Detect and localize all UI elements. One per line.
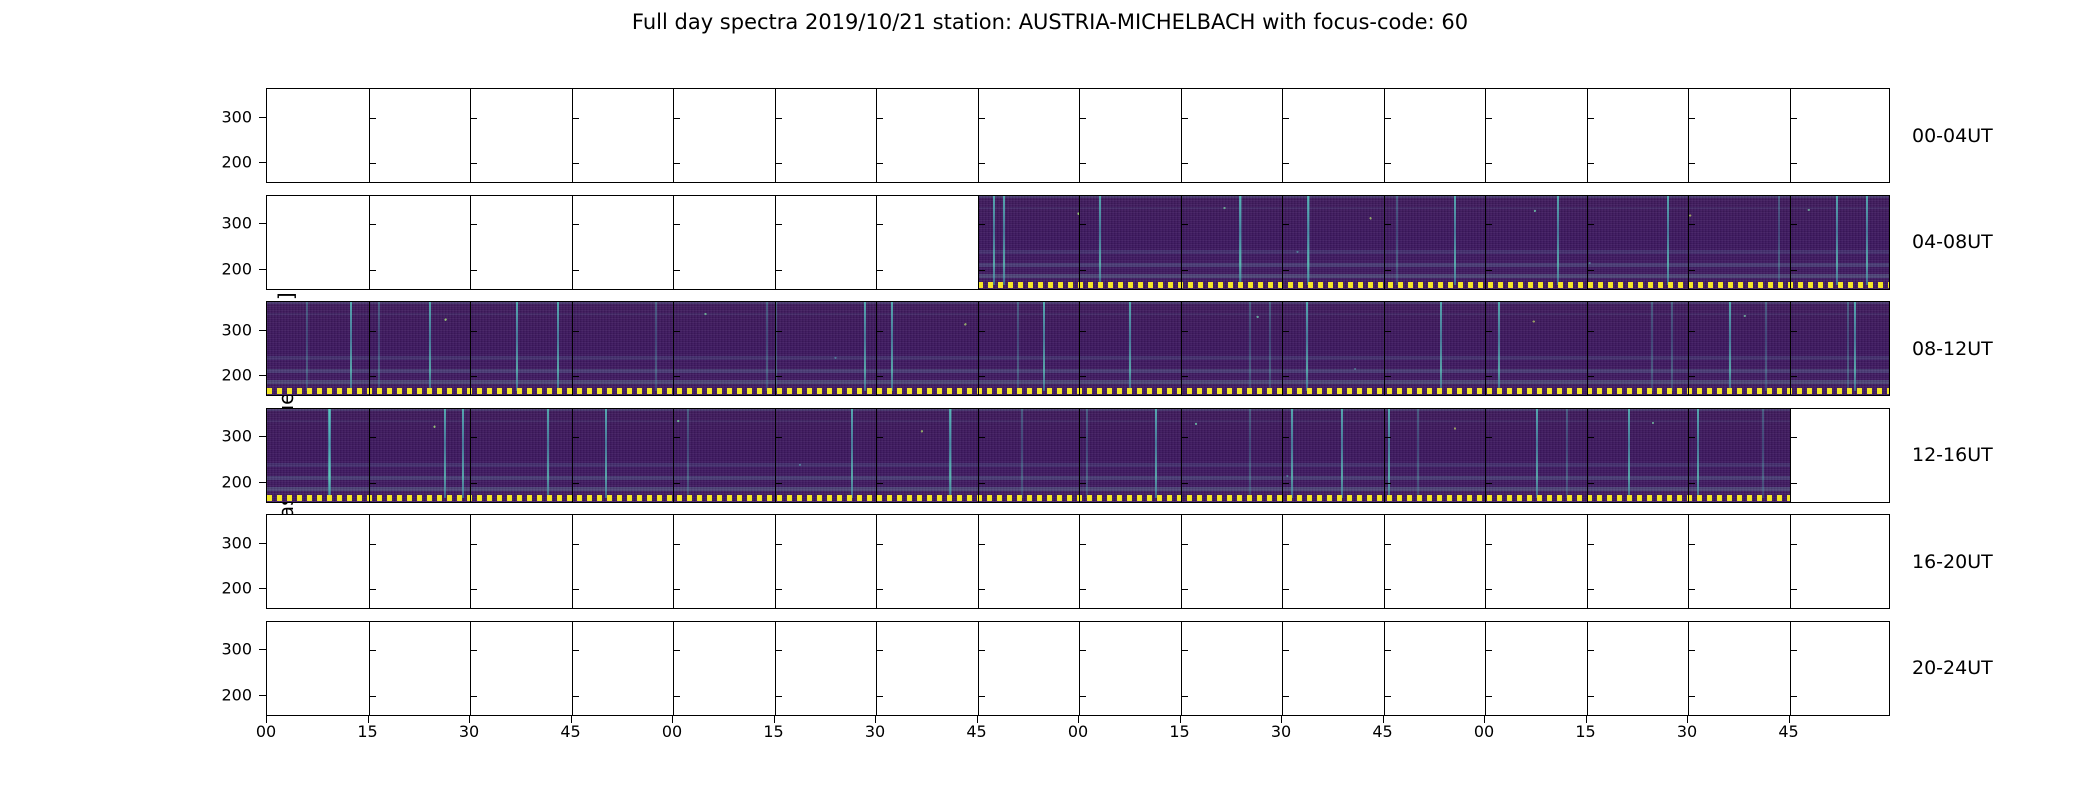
- inner-y-tick: [1790, 224, 1797, 225]
- panel-separator: [470, 302, 471, 395]
- y-axis-tick-label: 200: [221, 259, 252, 278]
- inner-y-tick: [1282, 376, 1289, 377]
- spectrogram-row-12-16ut[interactable]: [266, 408, 1890, 503]
- panel-separator: [978, 196, 979, 289]
- y-axis-tick-label: 300: [221, 533, 252, 552]
- inner-y-tick: [1384, 163, 1391, 164]
- spectrogram-streak: [1566, 409, 1568, 498]
- x-axis-tick-label: 15: [763, 722, 783, 741]
- inner-y-tick: [1384, 483, 1391, 484]
- inner-y-tick: [470, 224, 477, 225]
- spectrogram-streak: [687, 409, 689, 498]
- panel-separator: [673, 302, 674, 395]
- inner-y-tick: [775, 483, 782, 484]
- spectrogram-row-16-20ut[interactable]: [266, 514, 1890, 609]
- row-label-16-20ut: 16-20UT: [1912, 551, 1993, 573]
- panel-separator: [1790, 196, 1791, 289]
- inner-y-tick: [1485, 589, 1492, 590]
- spectrogram-streak: [350, 302, 352, 391]
- spectrogram-streak: [1239, 196, 1241, 285]
- panel-separator: [1282, 89, 1283, 182]
- spectrogram-streak: [1536, 409, 1538, 498]
- inner-y-tick: [775, 118, 782, 119]
- y-axis-tick: [259, 588, 266, 589]
- inner-y-tick: [1282, 589, 1289, 590]
- inner-y-tick: [572, 163, 579, 164]
- inner-y-tick: [1587, 331, 1594, 332]
- inner-y-tick: [1079, 544, 1086, 545]
- inner-y-tick: [775, 376, 782, 377]
- panel-separator: [1181, 409, 1182, 502]
- inner-y-tick: [470, 270, 477, 271]
- inner-y-tick: [572, 696, 579, 697]
- inner-y-tick: [1790, 437, 1797, 438]
- panel-separator: [1485, 196, 1486, 289]
- inner-y-tick: [572, 437, 579, 438]
- inner-y-tick: [978, 437, 985, 438]
- inner-y-tick: [1384, 437, 1391, 438]
- inner-y-tick: [1282, 696, 1289, 697]
- inner-y-tick: [1790, 163, 1797, 164]
- panel-separator: [978, 302, 979, 395]
- panel-separator: [470, 622, 471, 715]
- x-axis-tick-label: 45: [966, 722, 986, 741]
- inner-y-tick: [1181, 118, 1188, 119]
- inner-y-tick: [1384, 544, 1391, 545]
- inner-y-tick: [876, 437, 883, 438]
- spectrogram-streak: [851, 409, 853, 498]
- inner-y-tick: [876, 544, 883, 545]
- spectrogram-streak: [1307, 196, 1309, 285]
- frequency-boundary-dashed-line: [978, 282, 1891, 288]
- inner-y-tick: [978, 163, 985, 164]
- panel-separator: [1790, 622, 1791, 715]
- inner-y-tick: [876, 331, 883, 332]
- panel-separator: [369, 409, 370, 502]
- panel-separator: [1181, 89, 1182, 182]
- figure-canvas: Full day spectra 2019/10/21 station: AUS…: [0, 0, 2100, 800]
- panel-separator: [1181, 302, 1182, 395]
- panel-separator: [369, 622, 370, 715]
- inner-y-tick: [673, 544, 680, 545]
- y-axis-tick-label: 300: [221, 320, 252, 339]
- inner-y-tick: [1587, 589, 1594, 590]
- spectrogram-streak: [1440, 302, 1442, 391]
- spectrogram-streak: [1269, 302, 1271, 391]
- y-axis-tick: [259, 436, 266, 437]
- panel-separator: [1384, 89, 1385, 182]
- inner-y-tick: [1688, 483, 1695, 484]
- spectrogram-streak: [1249, 409, 1251, 498]
- inner-y-tick: [1790, 270, 1797, 271]
- inner-y-tick: [978, 650, 985, 651]
- inner-y-tick: [673, 483, 680, 484]
- y-axis-tick: [259, 223, 266, 224]
- inner-y-tick: [1485, 696, 1492, 697]
- panel-separator: [470, 196, 471, 289]
- x-axis-tick-label: 00: [1068, 722, 1088, 741]
- inner-y-tick: [876, 589, 883, 590]
- inner-y-tick: [1485, 224, 1492, 225]
- spectrogram-streak: [605, 409, 607, 498]
- panel-separator: [876, 302, 877, 395]
- inner-y-tick: [1485, 650, 1492, 651]
- inner-y-tick: [1688, 696, 1695, 697]
- inner-y-tick: [876, 224, 883, 225]
- spectrogram-streak: [1765, 302, 1767, 391]
- frequency-boundary-dashed-line: [267, 495, 1790, 501]
- panel-separator: [775, 409, 776, 502]
- inner-y-tick: [470, 544, 477, 545]
- inner-y-tick: [978, 696, 985, 697]
- inner-y-tick: [1587, 376, 1594, 377]
- panel-separator: [876, 622, 877, 715]
- panel-separator: [775, 622, 776, 715]
- inner-y-tick: [1790, 589, 1797, 590]
- spectrogram-streak: [993, 196, 995, 285]
- panel-separator: [369, 515, 370, 608]
- spectrogram-image: [978, 196, 1891, 289]
- inner-y-tick: [1384, 376, 1391, 377]
- panel-separator: [369, 89, 370, 182]
- spectrogram-streak: [864, 302, 866, 391]
- inner-y-tick: [1384, 224, 1391, 225]
- panel-separator: [1181, 196, 1182, 289]
- panel-separator: [572, 89, 573, 182]
- y-axis-tick-label: 200: [221, 366, 252, 385]
- spectrogram-streak: [1417, 409, 1419, 498]
- spectrogram-image: [267, 409, 1790, 502]
- y-axis-tick-label: 200: [221, 579, 252, 598]
- spectrogram-streak: [949, 409, 951, 498]
- inner-y-tick: [1384, 650, 1391, 651]
- panel-separator: [1079, 89, 1080, 182]
- panel-separator: [1587, 515, 1588, 608]
- spectrogram-data-12-16ut: [267, 409, 1790, 502]
- inner-y-tick: [1282, 163, 1289, 164]
- panel-separator: [1282, 302, 1283, 395]
- inner-y-tick: [369, 437, 376, 438]
- x-axis-tick-label: 00: [256, 722, 276, 741]
- spectrogram-streak: [1651, 302, 1653, 391]
- inner-y-tick: [1688, 650, 1695, 651]
- inner-y-tick: [572, 270, 579, 271]
- inner-y-tick: [1181, 224, 1188, 225]
- spectrogram-row-00-04ut[interactable]: [266, 88, 1890, 183]
- panel-separator: [1079, 302, 1080, 395]
- x-axis-tick-label: 45: [1778, 722, 1798, 741]
- spectrogram-streak: [1388, 409, 1390, 498]
- inner-y-tick: [673, 118, 680, 119]
- y-axis-tick: [259, 695, 266, 696]
- inner-y-tick: [1688, 331, 1695, 332]
- panel-separator: [876, 409, 877, 502]
- x-axis-tick-label: 30: [459, 722, 479, 741]
- x-axis-tick-label: 30: [1677, 722, 1697, 741]
- inner-y-tick: [369, 544, 376, 545]
- panel-separator: [1688, 622, 1689, 715]
- inner-y-tick: [876, 270, 883, 271]
- panel-separator: [978, 515, 979, 608]
- inner-y-tick: [1790, 118, 1797, 119]
- y-axis-tick-label: 300: [221, 214, 252, 233]
- spectrogram-streak: [378, 302, 380, 391]
- inner-y-tick: [572, 483, 579, 484]
- spectrogram-streak: [1454, 196, 1456, 285]
- inner-y-tick: [1688, 270, 1695, 271]
- x-axis-tick-label: 00: [1474, 722, 1494, 741]
- inner-y-tick: [1587, 118, 1594, 119]
- panel-separator: [1384, 515, 1385, 608]
- inner-y-tick: [1181, 589, 1188, 590]
- inner-y-tick: [470, 163, 477, 164]
- spectrogram-streak: [516, 302, 518, 391]
- inner-y-tick: [1079, 163, 1086, 164]
- inner-y-tick: [978, 376, 985, 377]
- inner-y-tick: [1688, 589, 1695, 590]
- y-axis-tick-label: 300: [221, 640, 252, 659]
- inner-y-tick: [1384, 270, 1391, 271]
- inner-y-tick: [1079, 331, 1086, 332]
- spectrogram-streak: [1847, 302, 1849, 391]
- panel-separator: [1688, 89, 1689, 182]
- row-label-04-08ut: 04-08UT: [1912, 231, 1993, 253]
- inner-y-tick: [470, 376, 477, 377]
- inner-y-tick: [369, 331, 376, 332]
- inner-y-tick: [775, 696, 782, 697]
- panel-separator: [572, 622, 573, 715]
- spectrogram-streak: [1099, 196, 1101, 285]
- spectrogram-streak: [1667, 196, 1669, 285]
- panel-separator: [470, 409, 471, 502]
- inner-y-tick: [673, 224, 680, 225]
- y-axis-tick: [259, 482, 266, 483]
- inner-y-tick: [978, 544, 985, 545]
- x-axis-tick-label: 30: [865, 722, 885, 741]
- spectrogram-streak: [1017, 302, 1019, 391]
- spectrogram-streak: [1043, 302, 1045, 391]
- inner-y-tick: [1790, 331, 1797, 332]
- spectrogram-streak: [1778, 196, 1780, 285]
- inner-y-tick: [775, 163, 782, 164]
- inner-y-tick: [1282, 118, 1289, 119]
- row-label-08-12ut: 08-12UT: [1912, 338, 1993, 360]
- panel-separator: [1485, 515, 1486, 608]
- spectrogram-streak: [1003, 196, 1005, 285]
- inner-y-tick: [978, 589, 985, 590]
- inner-y-tick: [1181, 483, 1188, 484]
- inner-y-tick: [470, 483, 477, 484]
- panel-separator: [1790, 409, 1791, 502]
- inner-y-tick: [673, 696, 680, 697]
- spectrogram-streak: [1249, 302, 1251, 391]
- inner-y-tick: [572, 650, 579, 651]
- inner-y-tick: [1688, 118, 1695, 119]
- inner-y-tick: [978, 331, 985, 332]
- spectrogram-streak: [1697, 409, 1699, 498]
- inner-y-tick: [1079, 270, 1086, 271]
- inner-y-tick: [775, 437, 782, 438]
- inner-y-tick: [1688, 163, 1695, 164]
- y-axis-tick-label: 200: [221, 472, 252, 491]
- panel-separator: [1282, 622, 1283, 715]
- panel-separator: [1282, 515, 1283, 608]
- panel-separator: [876, 196, 877, 289]
- inner-y-tick: [470, 589, 477, 590]
- inner-y-tick: [1587, 163, 1594, 164]
- inner-y-tick: [1282, 650, 1289, 651]
- panel-separator: [1485, 622, 1486, 715]
- panel-separator: [1079, 196, 1080, 289]
- inner-y-tick: [1181, 331, 1188, 332]
- inner-y-tick: [470, 331, 477, 332]
- panel-separator: [978, 89, 979, 182]
- inner-y-tick: [369, 270, 376, 271]
- panel-separator: [1485, 302, 1486, 395]
- panel-separator: [1790, 89, 1791, 182]
- inner-y-tick: [369, 589, 376, 590]
- panel-separator: [673, 89, 674, 182]
- panel-separator: [1790, 515, 1791, 608]
- inner-y-tick: [1181, 163, 1188, 164]
- spectrogram-streak: [766, 302, 768, 391]
- panel-separator: [1079, 409, 1080, 502]
- y-axis-tick: [259, 330, 266, 331]
- panel-separator: [572, 196, 573, 289]
- inner-y-tick: [1181, 650, 1188, 651]
- spectrogram-streak: [1836, 196, 1838, 285]
- spectrogram-streak: [1729, 302, 1731, 391]
- spectrogram-streak: [329, 409, 331, 498]
- row-label-00-04ut: 00-04UT: [1912, 125, 1993, 147]
- inner-y-tick: [978, 270, 985, 271]
- inner-y-tick: [1079, 589, 1086, 590]
- inner-y-tick: [1181, 376, 1188, 377]
- y-axis-tick-label: 300: [221, 107, 252, 126]
- inner-y-tick: [1587, 270, 1594, 271]
- panel-separator: [1079, 515, 1080, 608]
- spectrogram-streak: [1671, 302, 1673, 391]
- spectrogram-row-04-08ut[interactable]: [266, 195, 1890, 290]
- spectrogram-streak: [444, 409, 446, 498]
- spectrogram-streak: [1628, 409, 1630, 498]
- inner-y-tick: [978, 224, 985, 225]
- inner-y-tick: [1587, 224, 1594, 225]
- inner-y-tick: [369, 163, 376, 164]
- inner-y-tick: [1384, 696, 1391, 697]
- panel-separator: [1079, 622, 1080, 715]
- spectrogram-streak: [1155, 409, 1157, 498]
- inner-y-tick: [876, 118, 883, 119]
- inner-y-tick: [369, 696, 376, 697]
- inner-y-tick: [1282, 544, 1289, 545]
- panel-separator: [673, 622, 674, 715]
- inner-y-tick: [1587, 544, 1594, 545]
- inner-y-tick: [673, 437, 680, 438]
- inner-y-tick: [1485, 270, 1492, 271]
- inner-y-tick: [369, 650, 376, 651]
- panel-separator: [1485, 89, 1486, 182]
- inner-y-tick: [673, 589, 680, 590]
- inner-y-tick: [1079, 118, 1086, 119]
- spectrogram-streak: [429, 302, 431, 391]
- inner-y-tick: [1485, 483, 1492, 484]
- inner-y-tick: [876, 483, 883, 484]
- inner-y-tick: [1790, 696, 1797, 697]
- spectrogram-streak: [1129, 302, 1131, 391]
- spectrogram-row-08-12ut[interactable]: [266, 301, 1890, 396]
- inner-y-tick: [1181, 437, 1188, 438]
- spectrogram-streak: [462, 409, 464, 498]
- spectrogram-streak: [1396, 196, 1398, 285]
- inner-y-tick: [1181, 544, 1188, 545]
- inner-y-tick: [470, 650, 477, 651]
- panel-separator: [1688, 302, 1689, 395]
- spectrogram-streak: [1557, 196, 1559, 285]
- inner-y-tick: [673, 376, 680, 377]
- x-axis-tick-label: 15: [1575, 722, 1595, 741]
- row-label-12-16ut: 12-16UT: [1912, 444, 1993, 466]
- inner-y-tick: [1079, 376, 1086, 377]
- spectrogram-streak: [1866, 196, 1868, 285]
- plot-area: Plasma frequency [MHz] 30020030020030020…: [266, 88, 1890, 715]
- panel-separator: [1384, 622, 1385, 715]
- inner-y-tick: [1790, 650, 1797, 651]
- panel-separator: [1282, 196, 1283, 289]
- panel-separator: [673, 196, 674, 289]
- inner-y-tick: [1384, 118, 1391, 119]
- panel-separator: [1384, 196, 1385, 289]
- inner-y-tick: [572, 376, 579, 377]
- spectrogram-streak: [1762, 409, 1764, 498]
- x-axis-tick-label: 15: [1169, 722, 1189, 741]
- inner-y-tick: [1282, 331, 1289, 332]
- x-axis-tick-label: 45: [560, 722, 580, 741]
- panel-separator: [1587, 622, 1588, 715]
- spectrogram-streak: [1021, 409, 1023, 498]
- spectrogram-streak: [1498, 302, 1500, 391]
- inner-y-tick: [572, 118, 579, 119]
- inner-y-tick: [470, 696, 477, 697]
- panel-separator: [1688, 515, 1689, 608]
- inner-y-tick: [876, 163, 883, 164]
- panel-separator: [1688, 409, 1689, 502]
- inner-y-tick: [1688, 376, 1695, 377]
- spectrogram-row-20-24ut[interactable]: [266, 621, 1890, 716]
- panel-separator: [1384, 409, 1385, 502]
- y-axis-tick: [259, 269, 266, 270]
- panel-separator: [369, 196, 370, 289]
- x-axis-tick-label: 00: [662, 722, 682, 741]
- inner-y-tick: [1384, 331, 1391, 332]
- inner-y-tick: [673, 163, 680, 164]
- panel-separator: [369, 302, 370, 395]
- panel-separator: [1587, 409, 1588, 502]
- inner-y-tick: [775, 224, 782, 225]
- panel-separator: [572, 409, 573, 502]
- panel-separator: [775, 302, 776, 395]
- inner-y-tick: [673, 270, 680, 271]
- x-axis-tick-label: 15: [357, 722, 377, 741]
- inner-y-tick: [1688, 437, 1695, 438]
- panel-separator: [775, 196, 776, 289]
- panel-separator: [673, 409, 674, 502]
- spectrogram-streak: [1854, 302, 1856, 391]
- inner-y-tick: [775, 270, 782, 271]
- inner-y-tick: [775, 331, 782, 332]
- inner-y-tick: [1384, 589, 1391, 590]
- inner-y-tick: [1079, 224, 1086, 225]
